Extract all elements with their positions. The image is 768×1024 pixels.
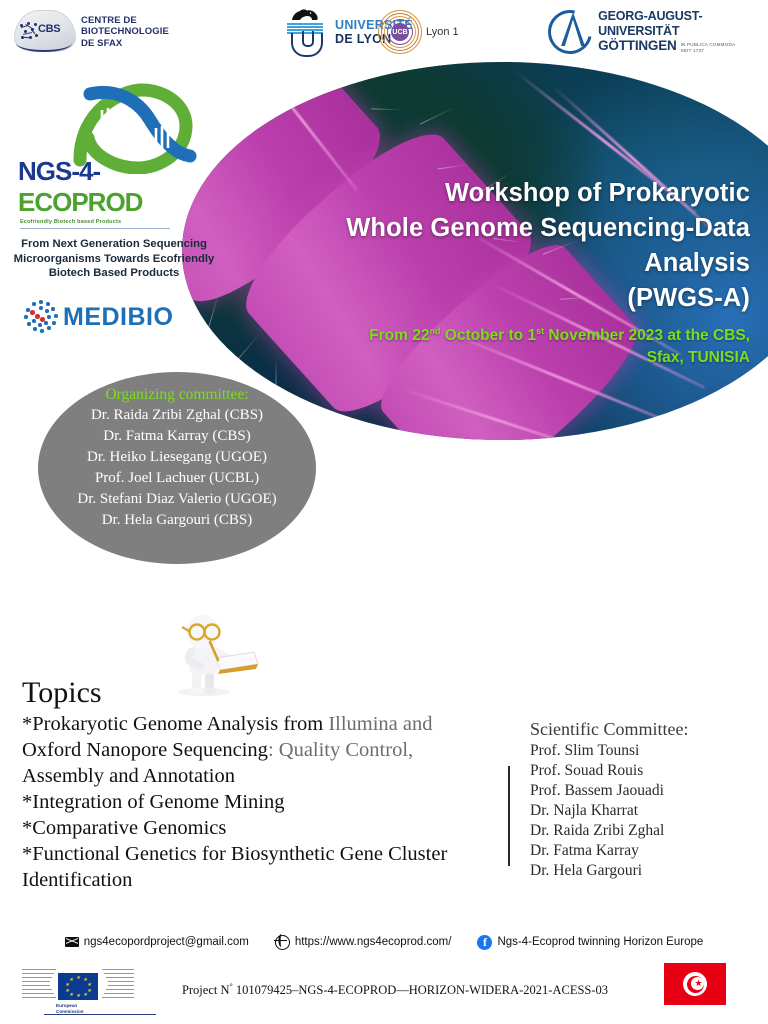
globe-icon bbox=[275, 935, 290, 950]
logo-medibio: MEDIBIO bbox=[24, 300, 173, 334]
scientific-member: Dr. Najla Kharrat bbox=[530, 801, 760, 821]
logo-lyon1: UCB Lyon 1 bbox=[378, 10, 459, 54]
medibio-emblem-icon bbox=[24, 300, 58, 334]
topic-line: Oxford Nanopore Sequencing: Quality Cont… bbox=[22, 737, 512, 763]
lyon1-rings-icon: UCB bbox=[378, 10, 422, 54]
scientific-member: Dr. Raida Zribi Zghal bbox=[530, 821, 760, 841]
gottingen-line-2: GÖTTINGEN bbox=[598, 38, 676, 53]
organizing-member: Dr. Stefani Diaz Valerio (UGOE) bbox=[77, 489, 276, 510]
eu-commission-logo: ★★★ ★★★ ★★★ ★ European Commission bbox=[22, 964, 134, 1016]
gottingen-line-1: GEORG-AUGUST-UNIVERSITÄT bbox=[598, 9, 768, 38]
ngs-subtitle-1: From Next Generation Sequencing bbox=[8, 237, 220, 252]
topic-line: Identification bbox=[22, 867, 512, 893]
contact-website[interactable]: https://www.ngs4ecoprod.com/ bbox=[275, 935, 452, 950]
contact-email[interactable]: ngs4ecopordproject@gmail.com bbox=[65, 936, 249, 948]
ngs-helix-svg bbox=[64, 82, 204, 174]
contact-facebook-text: Ngs-4-Ecoprod twinning Horizon Europe bbox=[497, 936, 703, 948]
organizing-member: Dr. Heiko Liesegang (UGOE) bbox=[87, 447, 267, 468]
ngs-divider bbox=[20, 228, 170, 229]
contact-email-text: ngs4ecopordproject@gmail.com bbox=[84, 936, 249, 948]
title-line-2: Whole Genome Sequencing-Data Analysis bbox=[280, 211, 750, 281]
facebook-icon: f bbox=[477, 935, 492, 950]
gottingen-motto: IN PUBLICA COMMODA SEIT 1737 bbox=[681, 42, 736, 53]
organizing-member: Dr. Hela Gargouri (CBS) bbox=[102, 510, 253, 531]
partner-logo-bar: CBS CENTRE DE BIOTECHNOLOGIE DE SFAX UNI… bbox=[0, 0, 768, 66]
gottingen-motto-2: SEIT 1737 bbox=[681, 48, 736, 54]
scientific-committee-section: Scientific Committee: Prof. Slim Tounsi … bbox=[530, 718, 760, 881]
eu-caption: European Commission bbox=[56, 1003, 84, 1014]
logo-gottingen: GEORG-AUGUST-UNIVERSITÄT GÖTTINGEN IN PU… bbox=[548, 8, 768, 54]
cbs-line-2: BIOTECHNOLOGIE bbox=[81, 26, 169, 38]
workshop-title: Workshop of Prokaryotic Whole Genome Seq… bbox=[280, 176, 750, 316]
lyon1-label: Lyon 1 bbox=[426, 26, 459, 38]
organizing-member: Dr. Raida Zribi Zghal (CBS) bbox=[91, 405, 263, 426]
ngs-subtitle-2: Microorganisms Towards Ecofriendly bbox=[8, 252, 220, 267]
gottingen-wordmark: GEORG-AUGUST-UNIVERSITÄT GÖTTINGEN IN PU… bbox=[598, 9, 768, 53]
cbs-wordmark: CENTRE DE BIOTECHNOLOGIE DE SFAX bbox=[81, 15, 169, 50]
scientific-member: Dr. Fatma Karray bbox=[530, 841, 760, 861]
cbs-acronym: CBS bbox=[38, 23, 60, 35]
logo-cbs: CBS CENTRE DE BIOTECHNOLOGIE DE SFAX bbox=[14, 10, 169, 54]
topic-line: *Integration of Genome Mining bbox=[22, 789, 512, 815]
cbs-line-1: CENTRE DE bbox=[81, 15, 169, 27]
topic-line: *Comparative Genomics bbox=[22, 815, 512, 841]
cbs-emblem-icon: CBS bbox=[14, 10, 74, 54]
topics-list: *Prokaryotic Genome Analysis from Illumi… bbox=[22, 711, 512, 893]
ngs-tagline: Ecofriendly Biotech based Products bbox=[8, 219, 220, 225]
lyon1-badge: UCB bbox=[391, 23, 409, 41]
cbs-line-3: DE SFAX bbox=[81, 38, 169, 50]
scientific-member: Prof. Souad Rouis bbox=[530, 761, 760, 781]
scientific-committee-heading: Scientific Committee: bbox=[530, 718, 760, 741]
footer-bar: ★★★ ★★★ ★★★ ★ European Commission Projec… bbox=[0, 960, 768, 1024]
scientific-member: Prof. Bassem Jaouadi bbox=[530, 781, 760, 801]
logo-ngs4ecoprod: NGS-4-ECOPROD Ecofriendly Biotech based … bbox=[8, 82, 220, 281]
topic-line: *Prokaryotic Genome Analysis from Illumi… bbox=[22, 711, 512, 737]
topics-section: Topics *Prokaryotic Genome Analysis from… bbox=[22, 676, 512, 893]
organizing-committee-circle: Organizing committee: Dr. Raida Zribi Zg… bbox=[38, 372, 316, 564]
mail-icon bbox=[65, 937, 79, 947]
ngs-project-subtitle: From Next Generation Sequencing Microorg… bbox=[8, 237, 220, 281]
organizing-member: Prof. Joel Lachuer (UCBL) bbox=[95, 468, 259, 489]
date-line-1: From 22nd October to 1st November 2023 a… bbox=[280, 320, 750, 347]
contact-bar: ngs4ecopordproject@gmail.com https://www… bbox=[0, 928, 768, 956]
scientific-member: Dr. Hela Gargouri bbox=[530, 861, 760, 881]
organizing-committee-heading: Organizing committee: bbox=[105, 384, 248, 405]
ngs-subtitle-3: Biotech Based Products bbox=[8, 266, 220, 281]
contact-facebook[interactable]: f Ngs-4-Ecoprod twinning Horizon Europe bbox=[477, 935, 703, 950]
gottingen-ga-icon bbox=[548, 8, 590, 54]
lyon-emblem-icon bbox=[283, 8, 327, 56]
dna-wave-decoration bbox=[250, 495, 768, 695]
vertical-divider bbox=[508, 766, 510, 866]
scientific-member: Prof. Slim Tounsi bbox=[530, 741, 760, 761]
medibio-wordmark: MEDIBIO bbox=[63, 303, 173, 332]
project-number: Project N° 101079425–NGS-4-ECOPROD—HORIZ… bbox=[170, 982, 620, 998]
organizing-member: Dr. Fatma Karray (CBS) bbox=[103, 426, 250, 447]
title-line-1: Workshop of Prokaryotic bbox=[280, 176, 750, 211]
topic-line: Assembly and Annotation bbox=[22, 763, 512, 789]
topic-line: *Functional Genetics for Biosynthetic Ge… bbox=[22, 841, 512, 867]
date-line-2: Sfax, TUNISIA bbox=[280, 347, 750, 369]
topics-heading: Topics bbox=[22, 676, 512, 710]
contact-website-text: https://www.ngs4ecoprod.com/ bbox=[295, 936, 452, 948]
workshop-date-location: From 22nd October to 1st November 2023 a… bbox=[280, 320, 750, 369]
eu-flag-icon: ★★★ ★★★ ★★★ ★ bbox=[58, 973, 98, 1000]
title-line-3: (PWGS-A) bbox=[280, 281, 750, 316]
lion-icon bbox=[290, 8, 320, 22]
tunisia-flag-icon: ★ bbox=[664, 963, 726, 1005]
poster-root: CBS CENTRE DE BIOTECHNOLOGIE DE SFAX UNI… bbox=[0, 0, 768, 1024]
dna-helix-icon bbox=[64, 82, 204, 170]
gottingen-motto-1: IN PUBLICA COMMODA bbox=[681, 42, 736, 48]
